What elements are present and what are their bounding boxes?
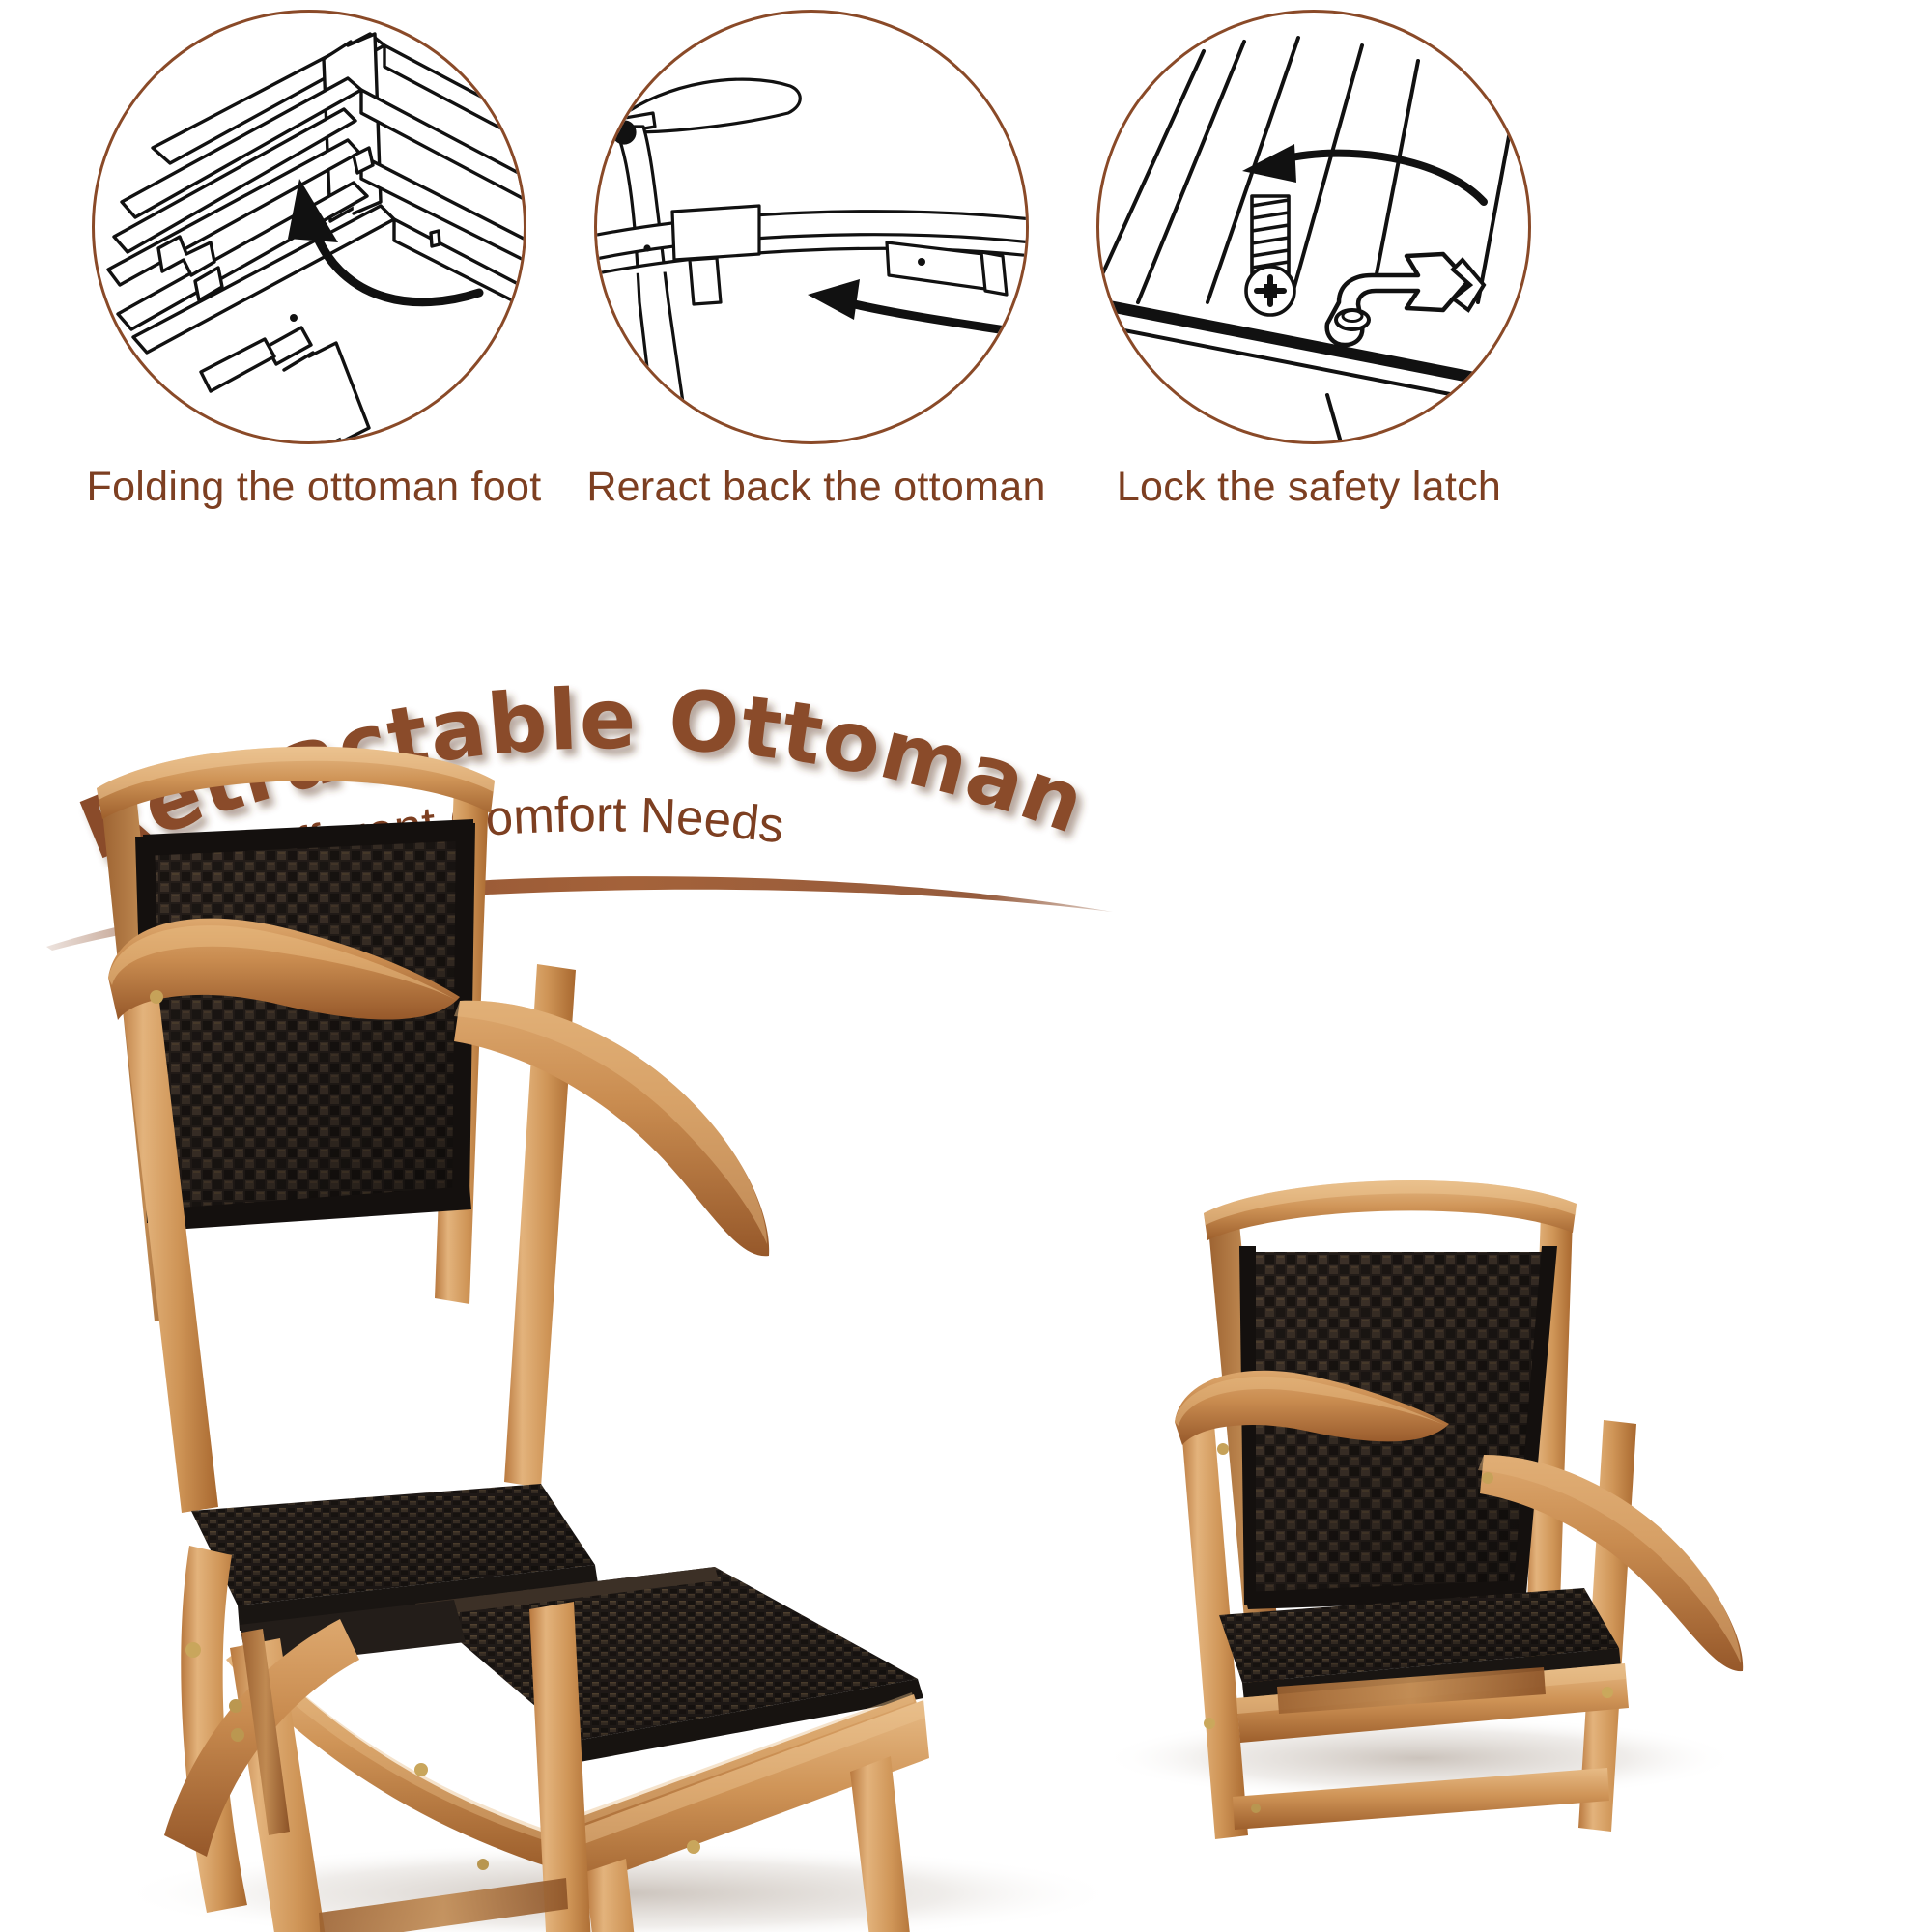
feature-caption-0: Folding the ottoman foot <box>34 464 594 511</box>
product-chair-ottoman-extended <box>97 747 1121 1932</box>
curved-arrow-left <box>1242 144 1484 202</box>
feature-item-lock-safety-latch: Lock the safety latch <box>1038 0 1657 618</box>
chair-frame-underside-line-drawing <box>95 13 526 444</box>
feature-circle-2 <box>1096 10 1531 444</box>
feature-caption-2: Lock the safety latch <box>1029 464 1589 511</box>
feature-circle-1 <box>594 10 1029 444</box>
phillips-screw <box>1246 196 1294 315</box>
curved-arrow-up-left <box>288 179 479 302</box>
feature-caption-1: Reract back the ottoman <box>536 464 1096 511</box>
slats-screw-and-latch-line-drawing <box>1099 13 1531 444</box>
feature-circle-0 <box>92 10 526 444</box>
product-stage <box>0 638 1932 1932</box>
feature-strip: Folding the ottoman foot <box>0 0 1932 618</box>
safety-latch-hook <box>1327 254 1484 345</box>
ottoman-arm-side-profile-line-drawing <box>597 13 1029 444</box>
product-chair-ottoman-retracted <box>1101 1180 1743 1839</box>
